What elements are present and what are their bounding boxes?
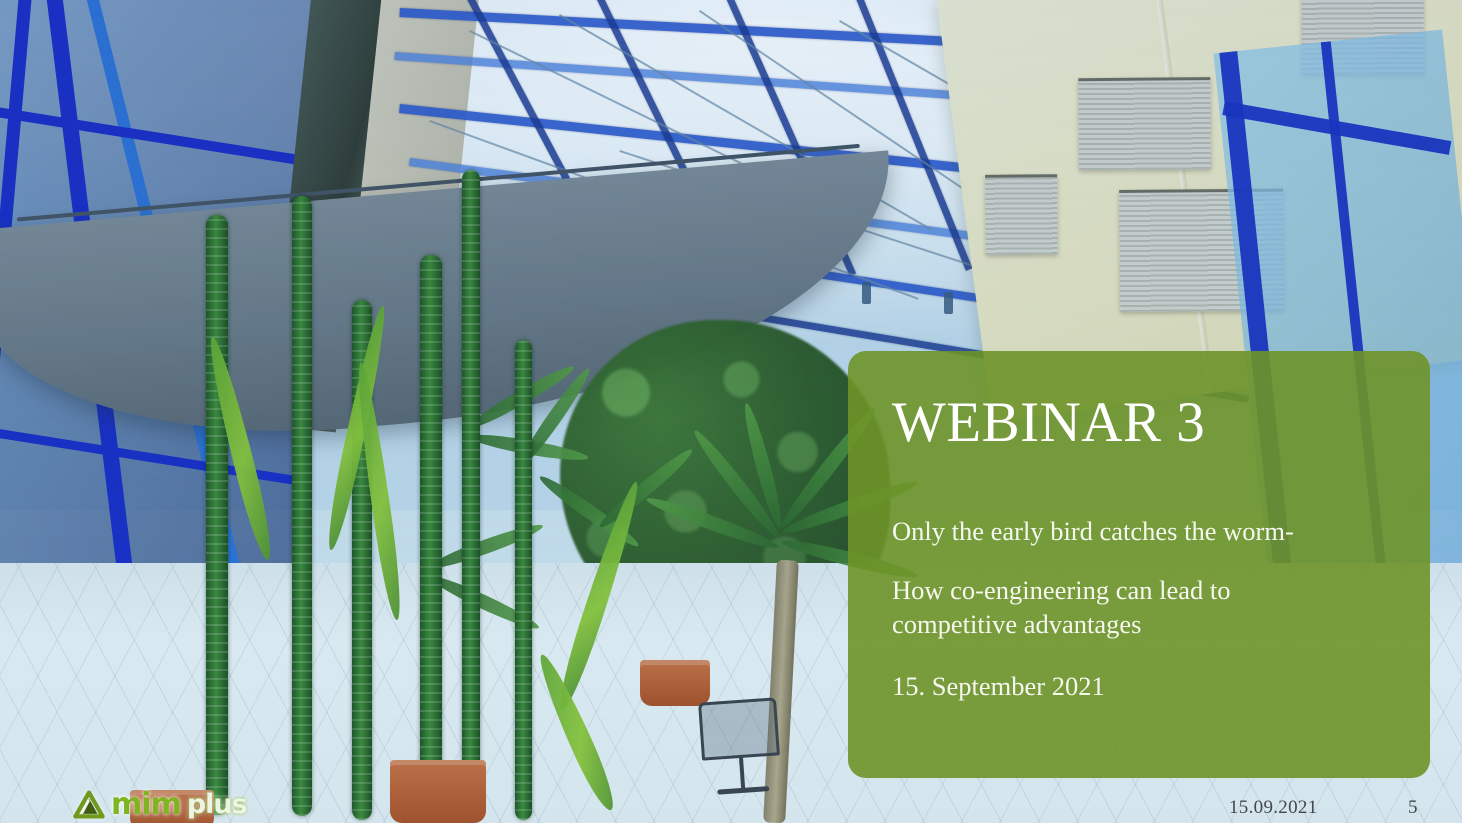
triangle-logo-icon <box>72 789 106 820</box>
company-logo: mim plus <box>72 789 247 820</box>
subtitle-line-1: Only the early bird catches the worm- <box>892 515 1386 549</box>
presentation-slide: WEBINAR 3 Only the early bird catches th… <box>0 0 1462 823</box>
logo-text-primary: mim <box>111 790 181 820</box>
atrium-chair <box>698 697 780 760</box>
cactus-stem <box>515 340 532 820</box>
cactus-stem <box>462 170 480 820</box>
cactus-stem <box>292 196 312 816</box>
title-panel: WEBINAR 3 Only the early bird catches th… <box>848 351 1430 778</box>
logo-text-secondary: plus <box>187 791 247 818</box>
subtitle-line-2: How co-engineering can lead to competiti… <box>892 574 1322 641</box>
terracotta-pot <box>390 760 486 823</box>
slide-title: WEBINAR 3 <box>892 393 1386 453</box>
footer-date: 15.09.2021 <box>1229 797 1318 819</box>
cactus-stem <box>420 255 442 820</box>
window-shutter <box>1078 77 1211 170</box>
footer-page-number: 5 <box>1408 797 1418 819</box>
slide-date: 15. September 2021 <box>892 670 1386 704</box>
window-shutter <box>985 174 1058 255</box>
cactus-stem <box>206 215 228 815</box>
terracotta-pot <box>640 660 710 706</box>
